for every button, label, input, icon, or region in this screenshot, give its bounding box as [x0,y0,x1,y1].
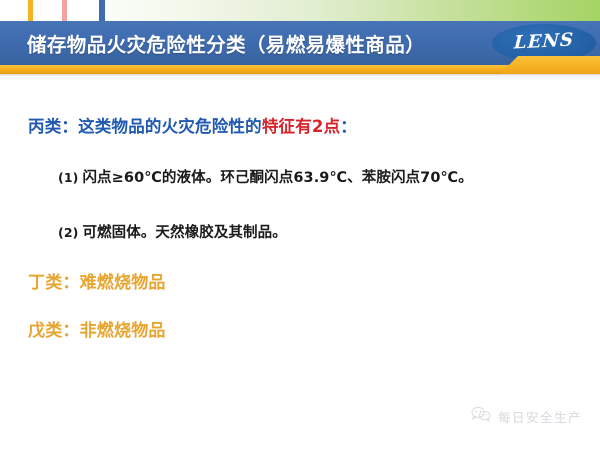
category-bing-heading: 丙类：这类物品的火灾危险性的特征有2点： [28,113,357,137]
accent-stripe-blue [99,0,105,21]
green-gradient-band [104,0,600,21]
category-bing-colon: ： [340,117,357,136]
category-ding-heading: 丁类：难燃烧物品 [28,268,166,293]
bullet-text: 可燃固体。天然橡胶及其制品。 [82,225,286,241]
watermark-text: 每日安全生产 [498,407,582,426]
page-title: 储存物品火灾危险性分类（易燃易爆性商品） [27,29,425,58]
category-bing-lead: 丙类：这类物品的火灾危险性的 [28,117,262,136]
bullet-number: (2) [58,225,78,240]
bullet-number: (1) [58,170,78,185]
header-drop-shadow [0,74,600,77]
category-wu-heading: 戊类：非燃烧物品 [28,316,166,341]
wechat-icon [471,406,491,426]
list-item: (1)闪点≥60℃的液体。环己酮闪点63.9℃、苯胺闪点70℃。 [58,166,473,187]
category-bing-emphasis: 特征有2点 [262,117,340,136]
slide-header: 储存物品火灾危险性分类（易燃易爆性商品） LENS [0,21,600,65]
bullet-text: 闪点≥60℃的液体。环己酮闪点63.9℃、苯胺闪点70℃。 [82,170,472,186]
top-decorative-band [0,0,600,22]
watermark: 每日安全生产 [471,406,582,426]
accent-stripe-pink [62,0,67,21]
list-item: (2)可燃固体。天然橡胶及其制品。 [58,221,287,242]
slide-body: 丙类：这类物品的火灾危险性的特征有2点： (1)闪点≥60℃的液体。环己酮闪点6… [0,78,600,450]
slide-canvas: 储存物品火灾危险性分类（易燃易爆性商品） LENS 丙类：这类物品的火灾危险性的… [0,0,600,450]
accent-stripe-orange [28,0,33,21]
